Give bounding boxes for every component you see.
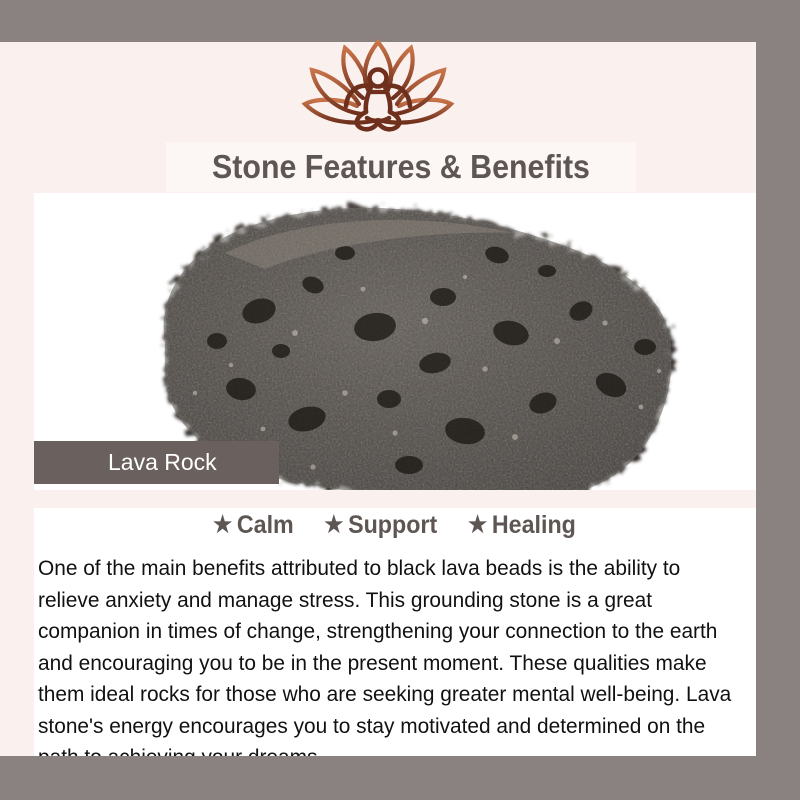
lotus-meditation-figure-icon bbox=[0, 34, 756, 144]
star-icon: ★ bbox=[468, 511, 487, 537]
page-title: Stone Features & Benefits bbox=[185, 142, 617, 192]
feature-label: Healing bbox=[491, 511, 575, 539]
star-icon: ★ bbox=[324, 511, 343, 537]
frame-band-bottom bbox=[0, 756, 640, 800]
feature-label: Calm bbox=[237, 511, 294, 539]
description-text: One of the main benefits attributed to b… bbox=[38, 553, 733, 756]
photo-separator bbox=[34, 490, 756, 508]
feature-item-calm: ★Calm bbox=[214, 511, 295, 540]
product-caption-label: Lava Rock bbox=[108, 441, 217, 484]
star-icon: ★ bbox=[214, 511, 233, 537]
feature-list: ★Calm ★Support ★Healing bbox=[34, 511, 756, 540]
frame-band-right bbox=[756, 0, 800, 800]
poster-root: BUDDHA STONES Stone Features & Benefits bbox=[0, 0, 800, 800]
feature-label: Support bbox=[348, 511, 437, 539]
content-card: Lava Rock ★Calm ★Support ★Healing One of… bbox=[34, 193, 756, 756]
feature-item-support: ★Support bbox=[324, 511, 437, 540]
feature-item-healing: ★Healing bbox=[468, 511, 576, 540]
